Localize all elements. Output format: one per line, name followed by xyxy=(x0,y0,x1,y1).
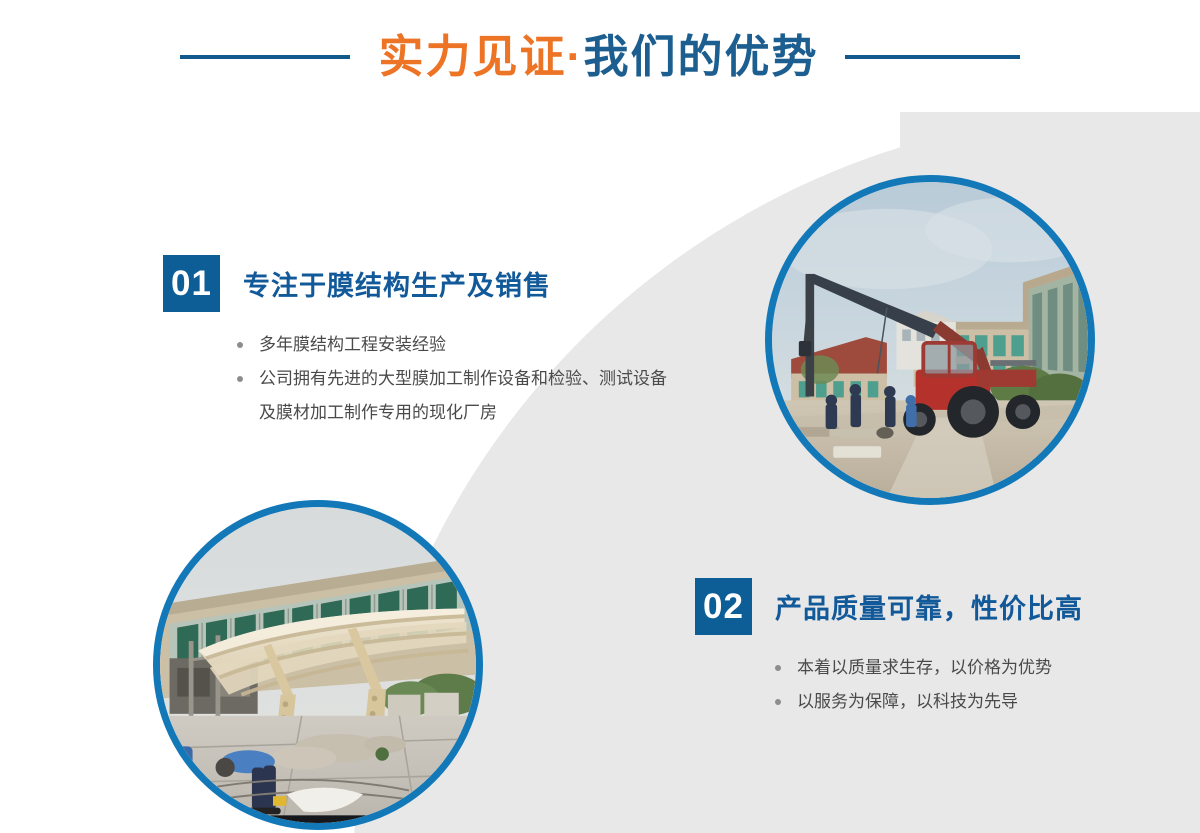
photo-truck-crane-construction-site xyxy=(765,175,1095,505)
feature-block-01: 01 专注于膜结构生产及销售 多年膜结构工程安装经验 公司拥有先进的大型膜加工制… xyxy=(163,255,683,430)
photo-2-image xyxy=(160,507,476,823)
list-item: 本着以质量求生存，以价格为优势 xyxy=(773,651,1115,685)
bullet-text: 公司拥有先进的大型膜加工制作设备和检验、测试设备及膜材加工制作专用的现化厂房 xyxy=(259,369,667,422)
feature-01-number-badge: 01 xyxy=(163,255,220,312)
list-item: 多年膜结构工程安装经验 xyxy=(235,328,683,362)
membrane-canopy-illustration xyxy=(160,507,476,823)
list-item: 公司拥有先进的大型膜加工制作设备和检验、测试设备及膜材加工制作专用的现化厂房 xyxy=(235,362,683,430)
photo-membrane-canopy-carport xyxy=(153,500,483,830)
feature-01-heading: 01 专注于膜结构生产及销售 xyxy=(163,255,683,312)
bullet-text: 以服务为保障，以科技为先导 xyxy=(797,692,1018,711)
feature-01-bullet-list: 多年膜结构工程安装经验 公司拥有先进的大型膜加工制作设备和检验、测试设备及膜材加… xyxy=(235,328,683,430)
header-rule-right xyxy=(845,55,1020,59)
feature-02-heading: 02 产品质量可靠，性价比高 xyxy=(695,578,1115,635)
background-gray-blob xyxy=(352,112,1200,833)
section-header: 实力见证·我们的优势 xyxy=(0,0,1200,112)
truck-crane-illustration xyxy=(772,182,1088,498)
photo-1-image xyxy=(772,182,1088,498)
page-title-orange: 实力见证· xyxy=(378,31,583,82)
bullet-text: 本着以质量求生存，以价格为优势 xyxy=(797,658,1052,677)
bullet-dot-icon xyxy=(237,342,243,348)
page-title: 实力见证·我们的优势 xyxy=(378,34,818,79)
feature-02-title: 产品质量可靠，性价比高 xyxy=(775,587,1083,626)
bullet-dot-icon xyxy=(775,699,781,705)
feature-block-02: 02 产品质量可靠，性价比高 本着以质量求生存，以价格为优势 以服务为保障，以科… xyxy=(695,578,1115,719)
feature-02-number-badge: 02 xyxy=(695,578,752,635)
header-rule-left xyxy=(180,55,350,59)
feature-02-bullet-list: 本着以质量求生存，以价格为优势 以服务为保障，以科技为先导 xyxy=(773,651,1115,719)
bullet-dot-icon xyxy=(237,376,243,382)
page-title-blue: 我们的优势 xyxy=(583,31,818,82)
bullet-dot-icon xyxy=(775,665,781,671)
list-item: 以服务为保障，以科技为先导 xyxy=(773,685,1115,719)
feature-01-title: 专注于膜结构生产及销售 xyxy=(243,264,551,303)
bullet-text: 多年膜结构工程安装经验 xyxy=(259,335,446,354)
advantages-banner: 实力见证·我们的优势 xyxy=(0,0,1200,833)
